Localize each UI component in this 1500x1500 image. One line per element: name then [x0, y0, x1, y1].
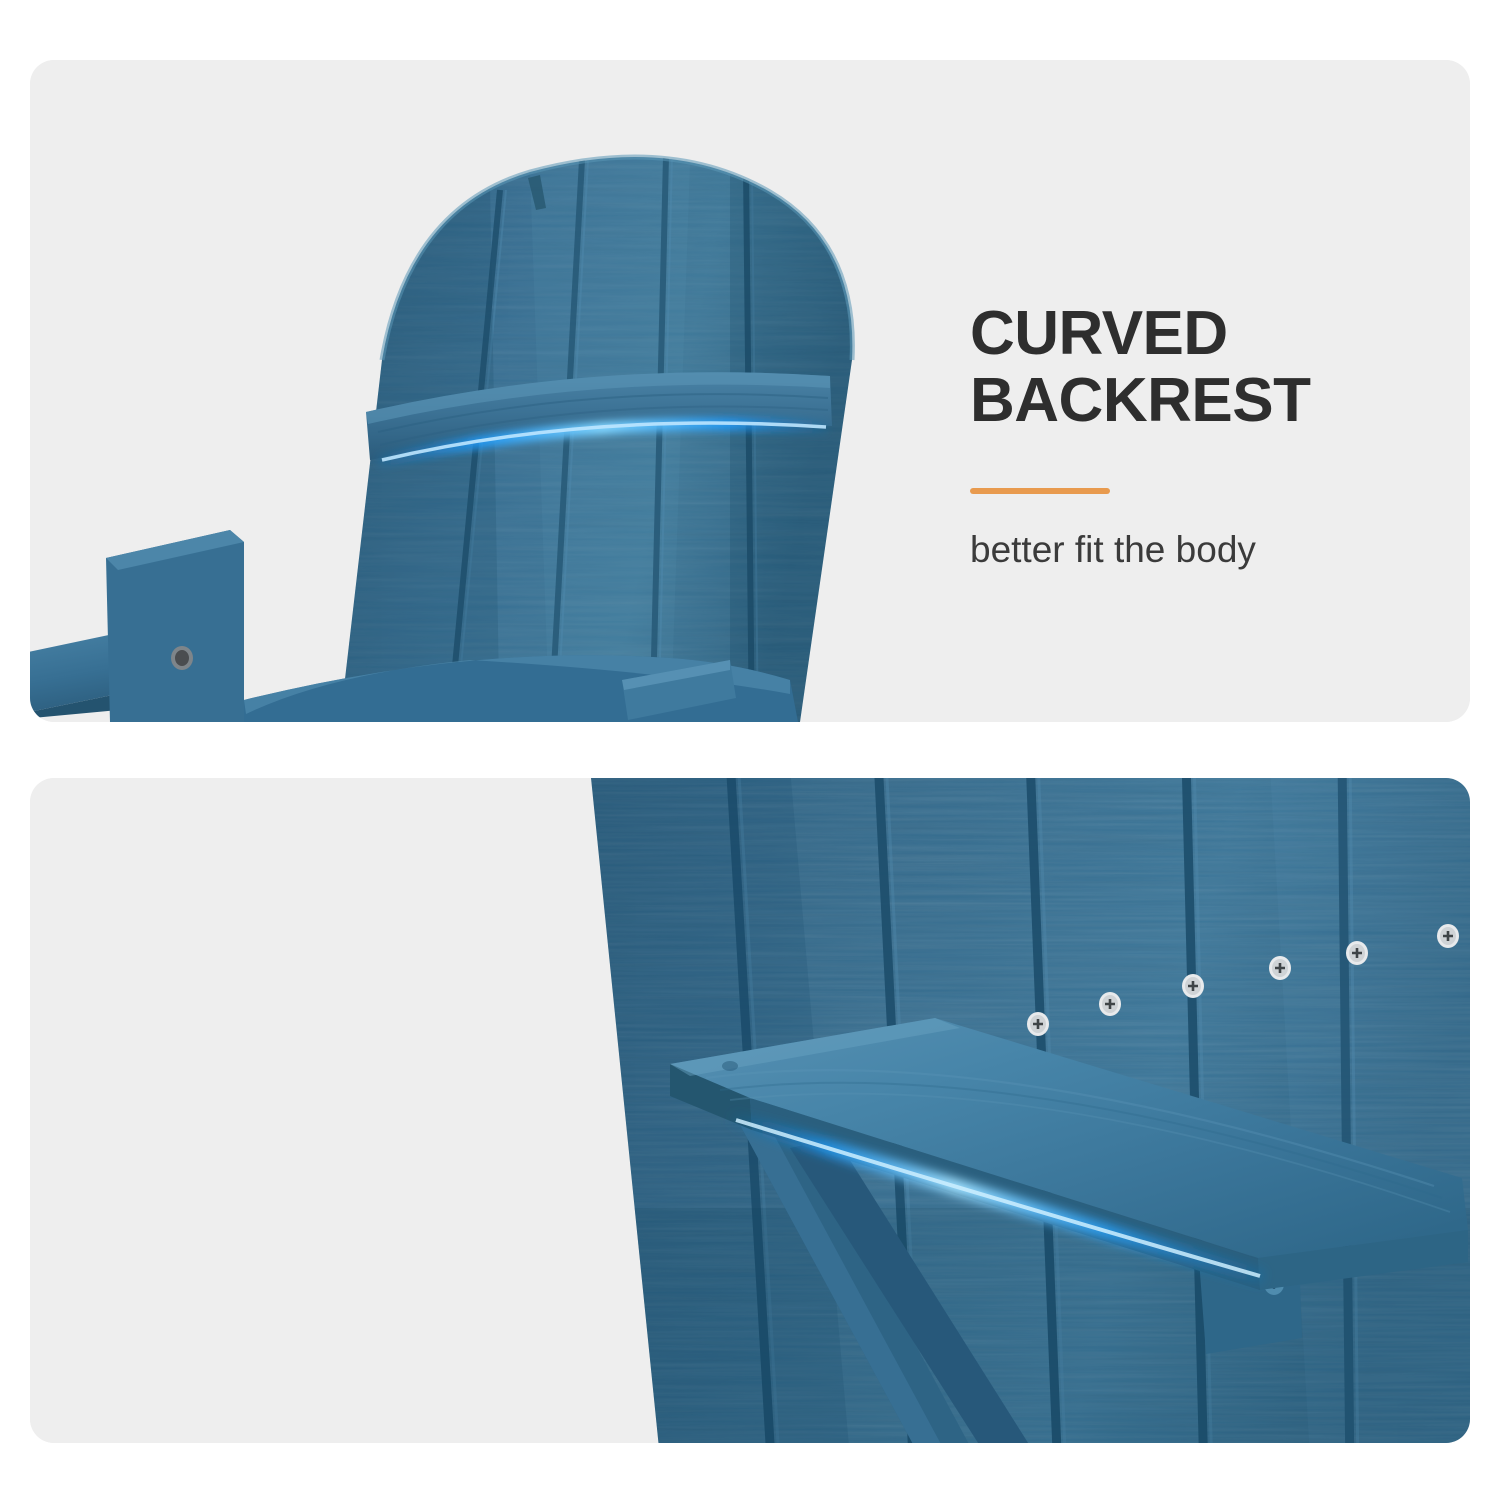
feature-panel-curved-backrest: CURVED BACKREST better fit the body — [30, 60, 1470, 722]
feature-text-block-curved-backrest: CURVED BACKREST better fit the body — [970, 300, 1440, 572]
left-arm-post — [106, 530, 244, 722]
feature-panel-wide-armrests: WIDE ARMRESTS for better arm relaxation — [30, 778, 1470, 1443]
feature-subtitle: better fit the body — [970, 528, 1440, 572]
feature-title: CURVED BACKREST — [970, 300, 1440, 434]
product-feature-infographic: CURVED BACKREST better fit the body — [0, 0, 1500, 1500]
accent-rule — [970, 488, 1110, 494]
product-photo-wide-armrests — [30, 778, 1470, 1443]
